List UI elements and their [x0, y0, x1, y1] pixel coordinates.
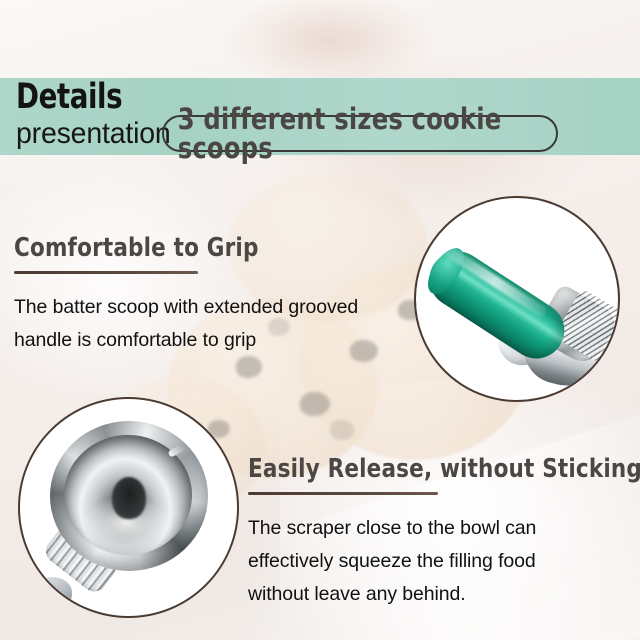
feature-title: Comfortable to Grip	[14, 234, 391, 262]
feature-underline	[14, 271, 198, 274]
feature-underline	[248, 492, 438, 495]
page-subtitle: presentation	[16, 118, 171, 150]
feature-description-line: handle is comfortable to grip	[14, 324, 424, 357]
feature-description-line: effectively squeeze the filling food	[248, 545, 638, 578]
scoop-bowl-center-shadow	[112, 477, 146, 519]
scoop-tab-shape	[32, 577, 72, 607]
feature-description-line: The batter scoop with extended grooved	[14, 291, 424, 324]
product-photo-green-handle-scoop	[414, 196, 620, 402]
feature-description: The batter scoop with extended grooved h…	[14, 291, 424, 357]
feature-comfortable-to-grip: Comfortable to Grip The batter scoop wit…	[14, 234, 424, 357]
feature-description-line: The scraper close to the bowl can	[248, 512, 638, 545]
product-variant-badge-label: 3 different sizes cookie scoops	[178, 105, 543, 163]
product-detail-infographic: Details presentation 3 different sizes c…	[0, 0, 640, 640]
page-title: Details	[16, 79, 122, 115]
feature-title: Easily Release, without Sticking	[248, 455, 607, 483]
product-variant-badge: 3 different sizes cookie scoops	[162, 115, 558, 152]
feature-description: The scraper close to the bowl can effect…	[248, 512, 638, 611]
product-photo-scoop-bowl	[18, 397, 239, 618]
feature-description-line: without leave any behind.	[248, 578, 638, 611]
feature-easily-release: Easily Release, without Sticking The scr…	[248, 455, 638, 611]
